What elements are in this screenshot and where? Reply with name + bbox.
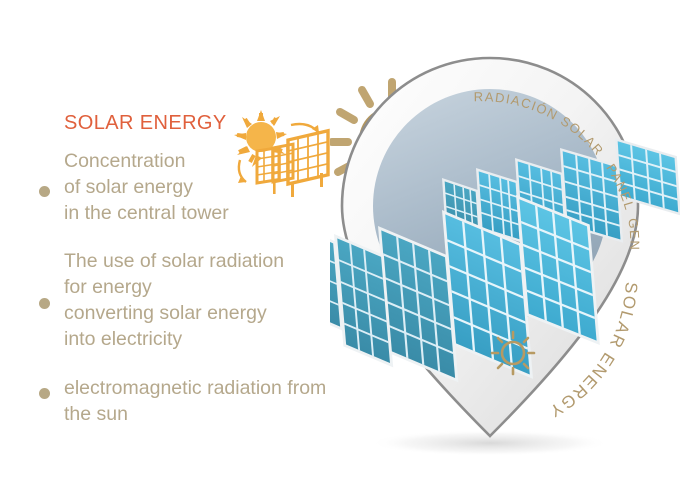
bullet-electromagnetic-text: electromagnetic radiation from the sun [64, 375, 326, 427]
bullet-line: the sun [64, 401, 326, 427]
bullet-line: The use of solar radiation [64, 248, 284, 274]
bullet-line: electromagnetic radiation from [64, 375, 326, 401]
bullet-line: Concentration [64, 148, 229, 174]
bullet-line: in the central tower [64, 200, 229, 226]
page-title: SOLAR ENERGY [64, 112, 227, 135]
solar-panel-sun-icon [228, 105, 338, 210]
bullet-dot-icon [39, 186, 50, 197]
bullet-line: into electricity [64, 326, 284, 352]
bullet-line: of solar energy [64, 174, 229, 200]
bullet-solar-radiation-text: The use of solar radiation for energy co… [64, 248, 284, 352]
bullet-dot-icon [39, 298, 50, 309]
bullet-concentration-text: Concentration of solar energy in the cen… [64, 148, 229, 226]
bullet-line: converting solar energy [64, 300, 284, 326]
bullet-line: for energy [64, 274, 284, 300]
bullet-dot-icon [39, 388, 50, 399]
infographic-canvas: SOLAR ENERGY Concentration of solar ener… [0, 0, 680, 500]
map-pin-illustration: RADIACIÓN SOLAR PANEL GENERADOR SOLAR EN… [330, 40, 680, 500]
